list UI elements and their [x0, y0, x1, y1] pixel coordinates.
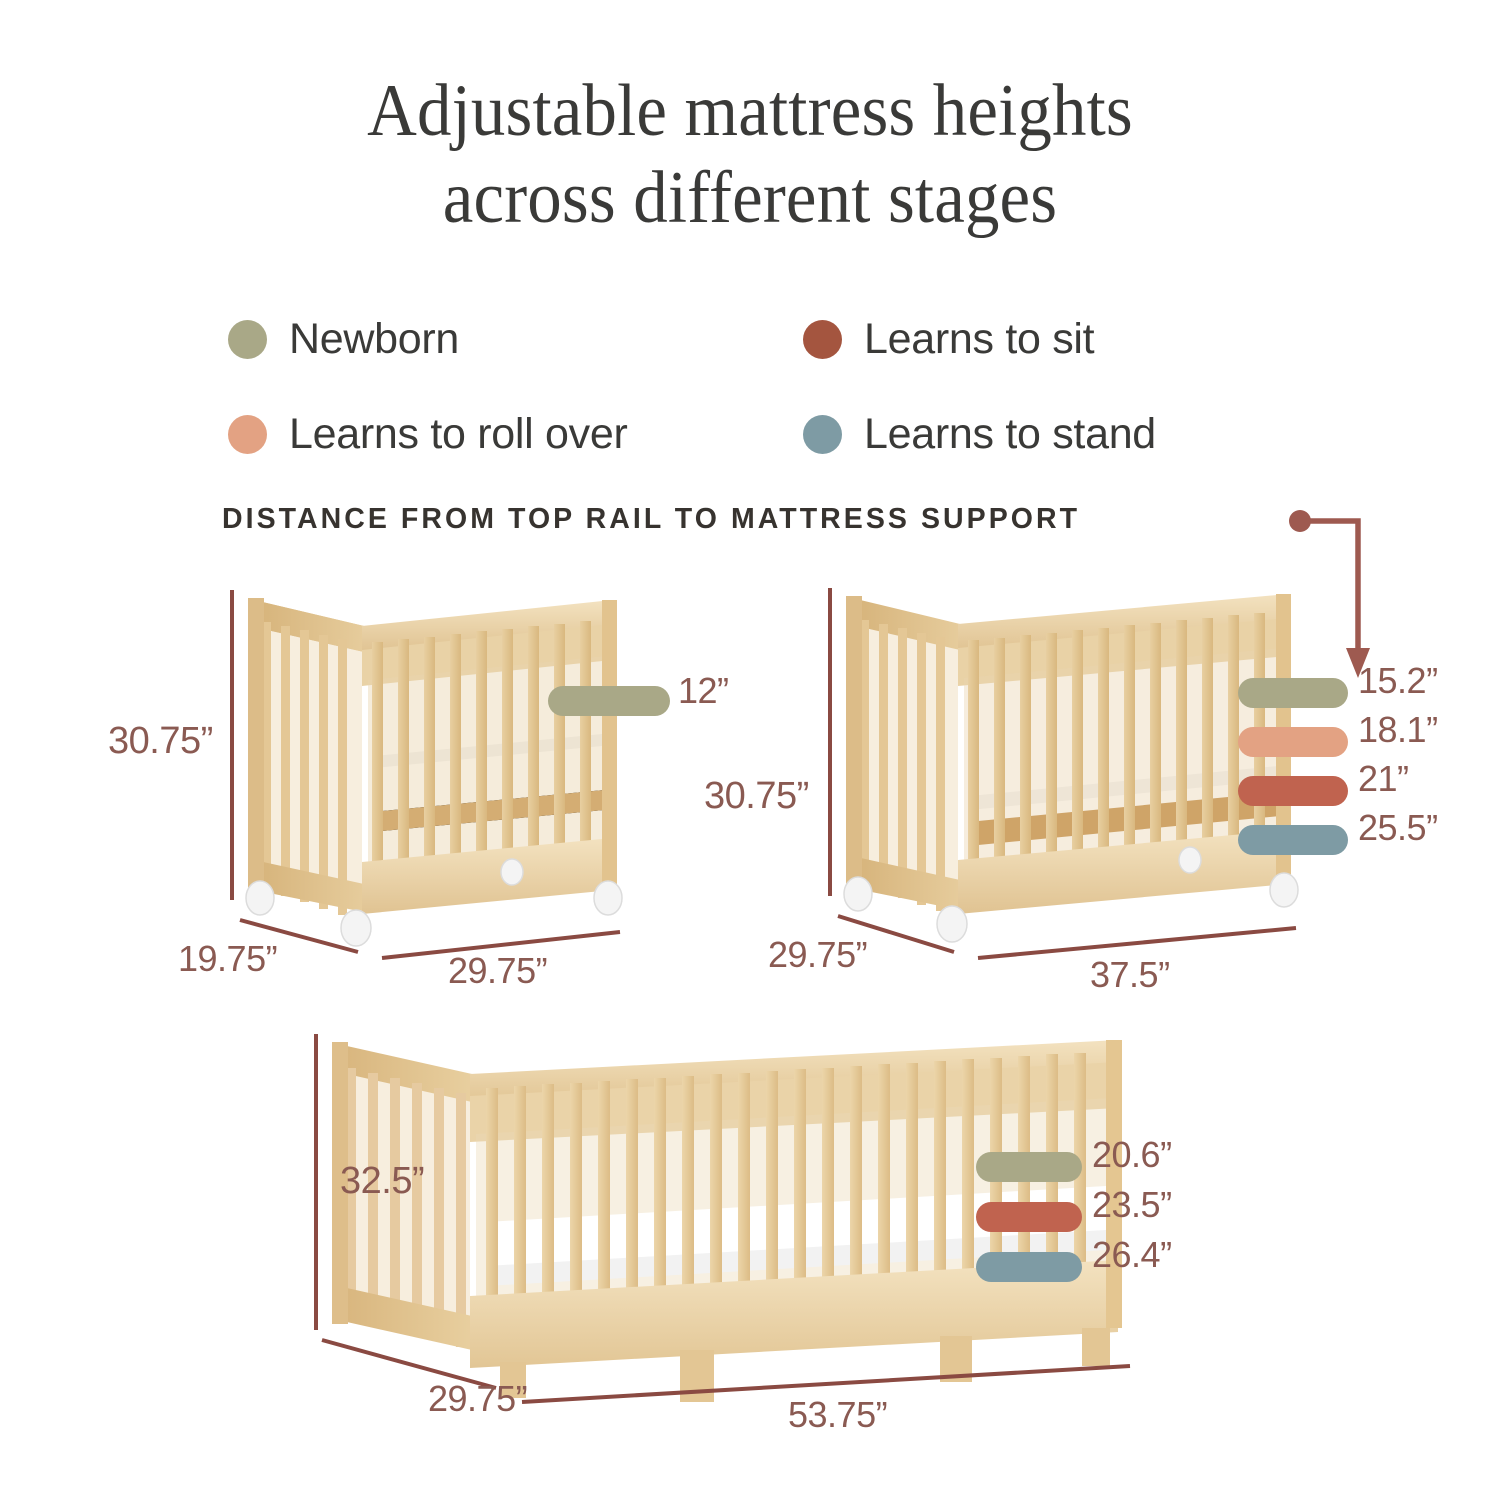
measurement-pill-stand: [1238, 825, 1348, 855]
measurement-pill-sit: [976, 1202, 1082, 1232]
measurement-pill-newborn: [976, 1152, 1082, 1182]
measurement-pill-newborn: [1238, 678, 1348, 708]
dimension-height: 30.75”: [108, 720, 213, 763]
page-title: Adjustable mattress heights across diffe…: [0, 68, 1500, 243]
dimension-depth: 29.75”: [768, 934, 867, 976]
title-line-1: Adjustable mattress heights: [53, 68, 1448, 155]
dimension-lines-mini: [150, 560, 710, 980]
legend-label: Learns to roll over: [289, 410, 627, 459]
crib-illustration-mini: 12” 30.75” 19.75” 29.75”: [150, 560, 710, 980]
legend-dot-icon: [228, 415, 267, 454]
crib-illustration-mid: 15.2” 18.1” 21” 25.5” 30.75” 29.75” 37.5…: [760, 560, 1380, 980]
measurement-value-newborn: 20.6”: [1092, 1134, 1172, 1176]
measurement-value-stand: 25.5”: [1358, 807, 1438, 849]
measurement-pill-stand: [976, 1252, 1082, 1282]
legend-dot-icon: [803, 320, 842, 359]
legend-item-learns-to-roll-over: Learns to roll over: [228, 410, 803, 459]
measurement-pill-newborn: [548, 686, 670, 716]
measurement-value-newborn: 15.2”: [1358, 660, 1438, 702]
dimension-width: 53.75”: [788, 1394, 887, 1436]
measurement-value-roll-over: 18.1”: [1358, 709, 1438, 751]
legend-label: Newborn: [289, 315, 459, 364]
legend: Newborn Learns to sit Learns to roll ove…: [228, 292, 1298, 482]
caption-row: DISTANCE FROM TOP RAIL TO MATTRESS SUPPO…: [222, 503, 1382, 536]
legend-dot-icon: [803, 415, 842, 454]
measurement-value-stand: 26.4”: [1092, 1234, 1172, 1276]
dimension-height: 32.5”: [340, 1160, 424, 1203]
measurement-value-newborn: 12”: [678, 670, 729, 712]
dimension-width: 29.75”: [448, 950, 547, 992]
dimension-depth: 29.75”: [428, 1378, 527, 1420]
legend-item-learns-to-sit: Learns to sit: [803, 315, 1298, 364]
caption-text: DISTANCE FROM TOP RAIL TO MATTRESS SUPPO…: [222, 503, 1080, 535]
legend-label: Learns to stand: [864, 410, 1156, 459]
title-line-2: across different stages: [53, 155, 1448, 242]
dimension-width: 37.5”: [1090, 954, 1170, 996]
measurement-value-sit: 21”: [1358, 758, 1409, 800]
dimension-depth: 19.75”: [178, 938, 277, 980]
legend-label: Learns to sit: [864, 315, 1094, 364]
infographic-canvas: Adjustable mattress heights across diffe…: [0, 0, 1500, 1500]
crib-illustration-full: 20.6” 23.5” 26.4” 32.5” 29.75” 53.75”: [300, 1010, 1200, 1430]
legend-item-newborn: Newborn: [228, 315, 803, 364]
measurement-pill-sit: [1238, 776, 1348, 806]
legend-item-learns-to-stand: Learns to stand: [803, 410, 1298, 459]
measurement-pill-roll-over: [1238, 727, 1348, 757]
dimension-height: 30.75”: [704, 775, 809, 818]
dimension-lines-mid: [760, 560, 1380, 980]
legend-dot-icon: [228, 320, 267, 359]
measurement-value-sit: 23.5”: [1092, 1184, 1172, 1226]
